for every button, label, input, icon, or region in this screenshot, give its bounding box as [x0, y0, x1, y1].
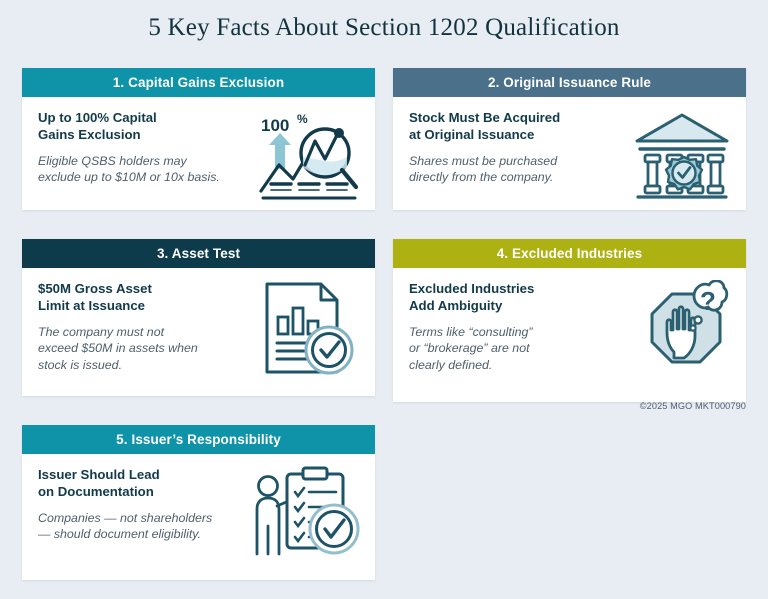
fact-card-asset-test: 3. Asset Test $50M Gross Asset Limit at … [22, 239, 375, 396]
fact-card-capital-gains-exclusion: 1. Capital Gains Exclusion Up to 100% Ca… [22, 68, 375, 210]
card-description-4: Terms like “consulting” or “brokerage” a… [409, 324, 624, 374]
card-header-2: 2. Original Issuance Rule [393, 68, 746, 97]
fact-card-issuer-responsibility: 5. Issuer’s Responsibility Issuer Should… [22, 425, 375, 580]
card-description-1: Eligible QSBS holders may exclude up to … [38, 153, 257, 186]
card-text-2: Stock Must Be Acquired at Original Issua… [409, 109, 632, 186]
card-description-2: Shares must be purchased directly from t… [409, 153, 632, 186]
card-text-5: Issuer Should Lead on Documentation Comp… [38, 466, 251, 543]
card-body-3: $50M Gross Asset Limit at Issuance The c… [22, 268, 375, 396]
bank-seal-icon [632, 109, 732, 201]
card-body-1: Up to 100% Capital Gains Exclusion Eligi… [22, 97, 375, 210]
card-body-2: Stock Must Be Acquired at Original Issua… [393, 97, 746, 210]
stop-hand-question-icon: ? [624, 280, 732, 386]
person-clipboard-check-icon [251, 466, 361, 558]
page-title: 5 Key Facts About Section 1202 Qualifica… [0, 14, 768, 42]
card-heading-5: Issuer Should Lead on Documentation [38, 466, 251, 501]
magnifier-chart-100-percent-icon: 100 % [257, 109, 361, 201]
card-description-5: Companies — not shareholders — should do… [38, 510, 251, 543]
card-text-3: $50M Gross Asset Limit at Issuance The c… [38, 280, 257, 373]
card-header-4: 4. Excluded Industries [393, 239, 746, 268]
card-heading-2: Stock Must Be Acquired at Original Issua… [409, 109, 632, 144]
card-text-4: Excluded Industries Add Ambiguity Terms … [409, 280, 624, 373]
card-heading-1: Up to 100% Capital Gains Exclusion [38, 109, 257, 144]
card-text-1: Up to 100% Capital Gains Exclusion Eligi… [38, 109, 257, 186]
fact-card-original-issuance-rule: 2. Original Issuance Rule Stock Must Be … [393, 68, 746, 210]
fact-card-excluded-industries: 4. Excluded Industries Excluded Industri… [393, 239, 746, 402]
svg-text:100: 100 [261, 116, 289, 135]
document-chart-check-icon [257, 280, 361, 378]
card-description-3: The company must not exceed $50M in asse… [38, 324, 257, 374]
card-header-5: 5. Issuer’s Responsibility [22, 425, 375, 454]
copyright-notice: ©2025 MGO MKT000790 [560, 401, 746, 411]
question-mark-glyph: ? [700, 286, 716, 316]
card-body-5: Issuer Should Lead on Documentation Comp… [22, 454, 375, 580]
card-heading-4: Excluded Industries Add Ambiguity [409, 280, 624, 315]
card-body-4: Excluded Industries Add Ambiguity Terms … [393, 268, 746, 402]
card-heading-3: $50M Gross Asset Limit at Issuance [38, 280, 257, 315]
card-header-1: 1. Capital Gains Exclusion [22, 68, 375, 97]
svg-text:%: % [297, 112, 308, 126]
card-header-3: 3. Asset Test [22, 239, 375, 268]
